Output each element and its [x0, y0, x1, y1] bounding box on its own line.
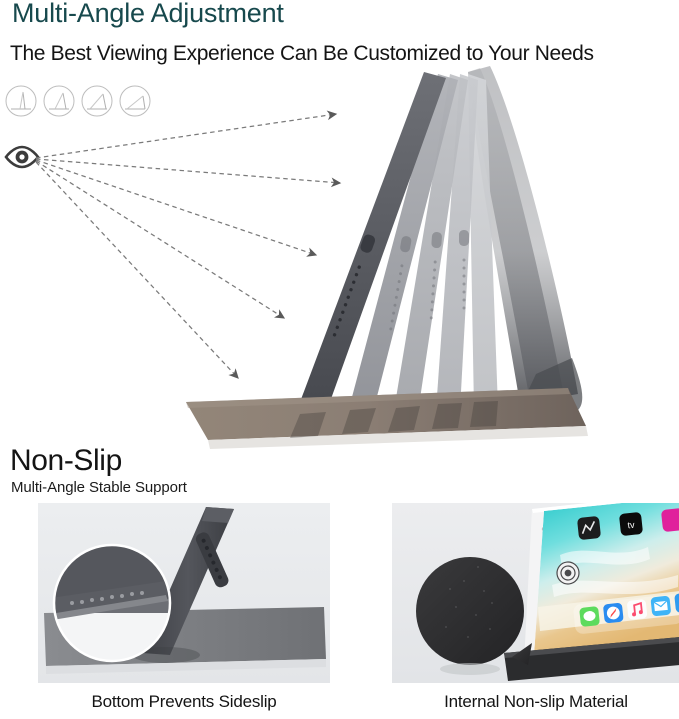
internal-non-slip-material-photo: tv	[392, 503, 679, 683]
page-title: Multi-Angle Adjustment	[12, 0, 284, 29]
panel-caption-left: Bottom Prevents Sideslip	[38, 692, 330, 712]
nonslip-subtitle: Multi-Angle Stable Support	[11, 479, 187, 496]
angle-preset-icon-row	[4, 84, 152, 118]
nonslip-title: Non-Slip	[10, 444, 122, 478]
product-infographic: Multi-Angle Adjustment The Best Viewing …	[0, 0, 679, 719]
panel-caption-right: Internal Non-slip Material	[392, 692, 679, 712]
multi-angle-tablet-photo	[168, 58, 620, 450]
bottom-prevents-sideslip-photo	[38, 503, 330, 683]
eye-icon	[4, 144, 40, 170]
stand-angle-icon-4	[118, 84, 152, 118]
stand-angle-icon-2	[42, 84, 76, 118]
stand-angle-icon-3	[80, 84, 114, 118]
stand-angle-icon-1	[4, 84, 38, 118]
